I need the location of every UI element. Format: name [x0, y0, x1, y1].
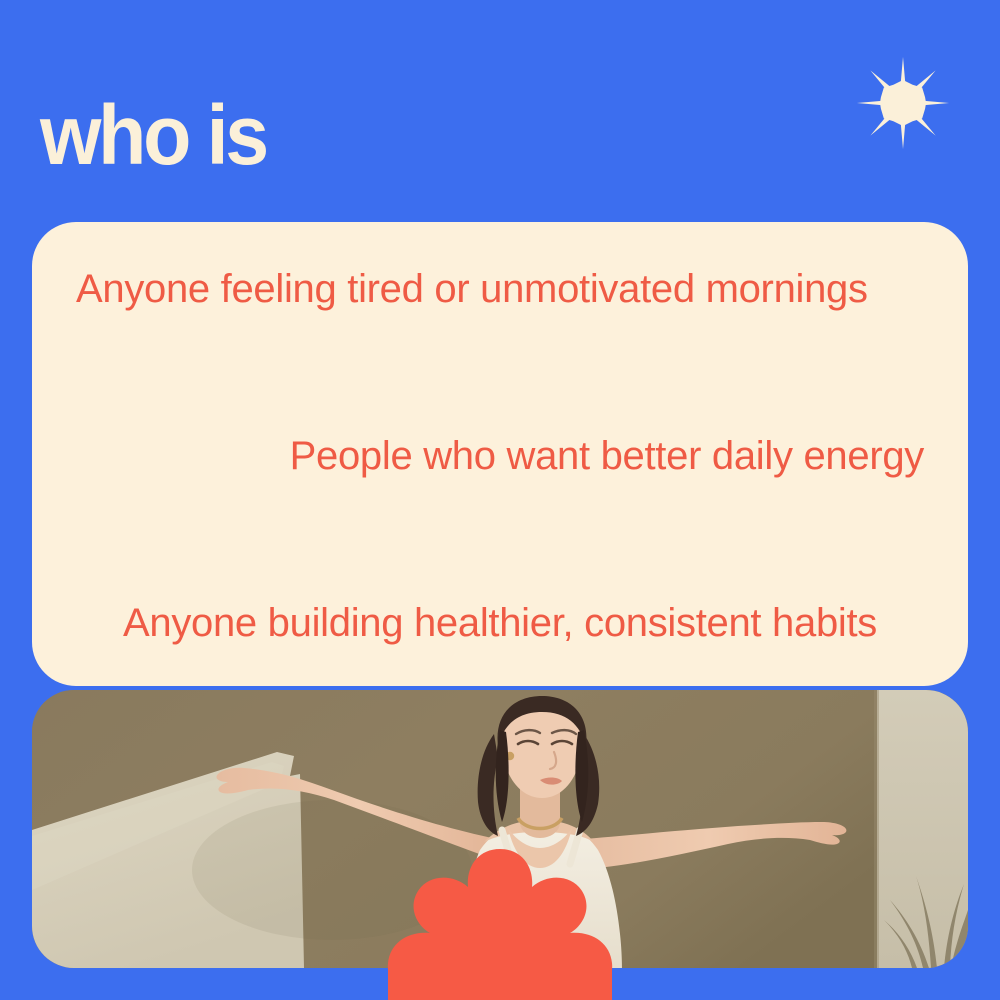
hero-photo: [32, 690, 968, 968]
bullet-row-2: People who want better daily energy: [76, 433, 924, 479]
bullet-text-1: Anyone feeling tired or unmotivated morn…: [76, 267, 868, 311]
bullet-row-3: Anyone building healthier, consistent ha…: [76, 600, 924, 646]
bullets-card: Anyone feeling tired or unmotivated morn…: [32, 222, 968, 686]
bullet-text-3: Anyone building healthier, consistent ha…: [123, 601, 877, 645]
social-card-canvas: who is this for? Anyone feeling tired or…: [0, 0, 1000, 1000]
sparkle-star-icon: [855, 55, 951, 151]
bullet-row-1: Anyone feeling tired or unmotivated morn…: [76, 266, 924, 312]
bullet-text-2: People who want better daily energy: [290, 434, 924, 478]
page-title-line-1: who is: [40, 99, 566, 172]
hero-photo-illustration: [32, 690, 968, 968]
